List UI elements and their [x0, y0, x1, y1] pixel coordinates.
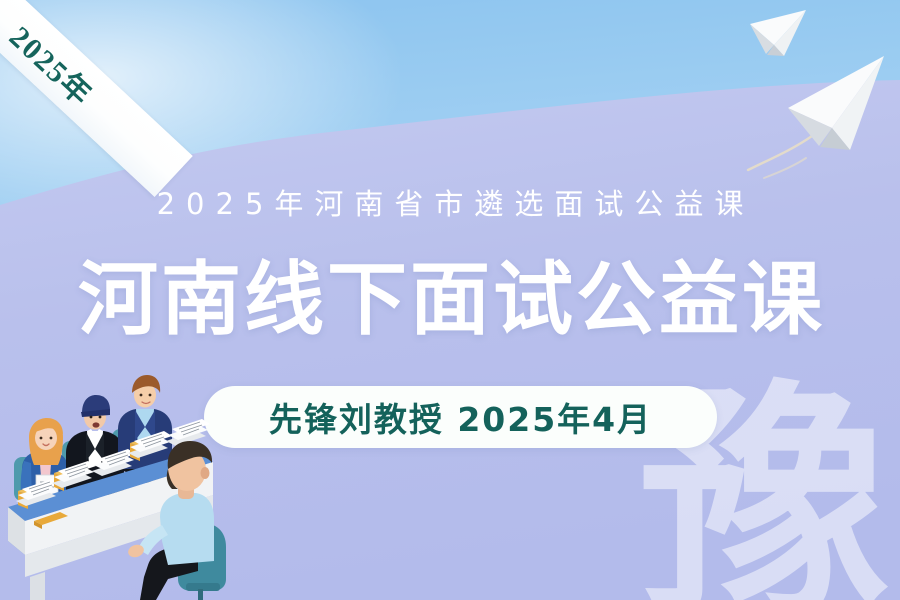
promo-banner: 豫 2025年 2025年河南省市遴选面试公益课	[0, 0, 900, 600]
instructor-date-badge: 先锋刘教授 2025年4月	[204, 386, 717, 448]
banner-headline: 河南线下面试公益课	[0, 255, 900, 345]
banner-subtitle: 2025年河南省市遴选面试公益课	[0, 181, 900, 223]
instructor-date-label: 先锋刘教授 2025年4月	[269, 393, 652, 441]
